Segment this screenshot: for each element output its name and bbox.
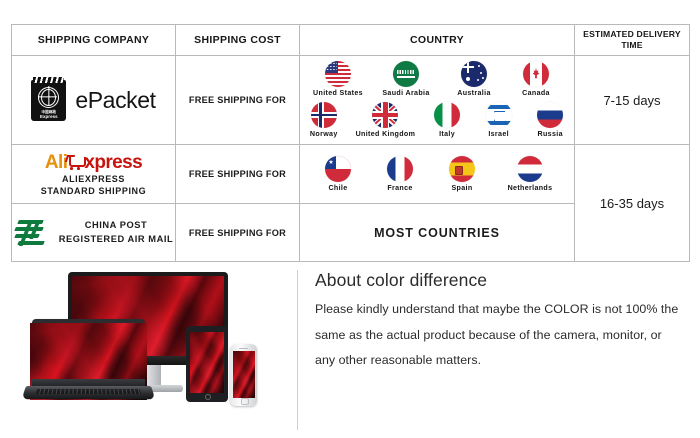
- flag-ru-icon: [537, 102, 563, 128]
- flag-sa-icon: [393, 61, 419, 87]
- cell-eta-epacket: 7-15 days: [575, 56, 690, 145]
- china-post-line2: REGISTERED AIR MAIL: [59, 233, 173, 246]
- about-color-difference-block: About color difference Please kindly und…: [315, 270, 687, 379]
- header-country: COUNTRY: [300, 25, 575, 56]
- header-shipping-company: SHIPPING COMPANY: [12, 25, 176, 56]
- flag-il-icon: [486, 102, 512, 128]
- aliexpress-logo-part2: xpress: [84, 153, 142, 172]
- flag-nl-icon: [517, 156, 543, 182]
- china-post-logo-icon: [14, 218, 48, 248]
- cell-countries-aliexpress: Chile France Spain Netherlands: [300, 145, 575, 204]
- country-label-us: United States: [313, 89, 363, 97]
- cell-countries-china-post: MOST COUNTRIES: [300, 204, 575, 262]
- country-item-nl: Netherlands: [499, 156, 561, 192]
- country-item-ru: Russia: [530, 102, 570, 138]
- flag-uk-icon: [372, 102, 398, 128]
- country-item-sa: Saudi Arabia: [375, 61, 437, 97]
- phone-speaker-icon: [239, 348, 248, 350]
- table-row: Ali xpress ALIEXPRESS STANDARD SHIPPING …: [12, 145, 690, 204]
- table-row: 中国邮政 Express ePacket FREE SHIPPING FOR U…: [12, 56, 690, 145]
- flag-row-3: Chile France Spain Netherlands: [304, 156, 570, 192]
- country-label-nl: Netherlands: [508, 184, 553, 192]
- about-title: About color difference: [315, 270, 687, 291]
- flag-fr-icon: [387, 156, 413, 182]
- aliexpress-sub-line1: ALIEXPRESS: [62, 174, 125, 184]
- tablet-home-button-icon: [205, 394, 211, 400]
- laptop-computer: [26, 319, 151, 405]
- country-label-il: Israel: [488, 130, 509, 138]
- cell-company-china-post: CHINA POST REGISTERED AIR MAIL: [12, 204, 176, 262]
- header-estimated-delivery-time: ESTIMATED DELIVERY TIME: [575, 25, 690, 56]
- country-item-ca: Canada: [511, 61, 561, 97]
- phone-home-button-icon: [241, 398, 249, 405]
- epacket-logo-icon: 中国邮政 Express: [31, 80, 66, 121]
- cell-company-aliexpress: Ali xpress ALIEXPRESS STANDARD SHIPPING: [12, 145, 176, 204]
- country-label-es: Spain: [451, 184, 472, 192]
- devices-illustration: [8, 264, 290, 436]
- tablet-device: [186, 326, 228, 402]
- shopping-cart-icon: [67, 155, 84, 169]
- country-item-no: Norway: [304, 102, 344, 138]
- country-item-us: United States: [313, 61, 363, 97]
- cell-cost-epacket: FREE SHIPPING FOR: [176, 56, 300, 145]
- cell-cost-china-post: FREE SHIPPING FOR: [176, 204, 300, 262]
- about-paragraph-line-2: same as the actual product because of th…: [315, 328, 687, 343]
- flag-cl-icon: [325, 156, 351, 182]
- aliexpress-logo-part1: Ali: [45, 153, 67, 172]
- country-label-au: Australia: [457, 89, 491, 97]
- epacket-badge-en: Express: [40, 114, 58, 119]
- flag-row-1: United States Saudi Arabia Australia: [304, 61, 570, 97]
- about-body: Please kindly understand that maybe the …: [315, 302, 687, 368]
- flag-es-icon: [449, 156, 475, 182]
- country-label-cl: Chile: [328, 184, 347, 192]
- country-item-au: Australia: [449, 61, 499, 97]
- cell-company-epacket: 中国邮政 Express ePacket: [12, 56, 176, 145]
- country-label-no: Norway: [310, 130, 338, 138]
- flag-au-icon: [461, 61, 487, 87]
- country-item-cl: Chile: [313, 156, 363, 192]
- flag-row-2: Norway United Kingdom Italy: [304, 102, 570, 138]
- country-label-it: Italy: [439, 130, 455, 138]
- country-item-uk: United Kingdom: [356, 102, 416, 138]
- about-paragraph-line-3: any other reasonable matters.: [315, 353, 687, 368]
- section-divider: [297, 270, 298, 430]
- country-label-ru: Russia: [538, 130, 563, 138]
- cell-cost-aliexpress: FREE SHIPPING FOR: [176, 145, 300, 204]
- country-item-es: Spain: [437, 156, 487, 192]
- table-header-row: SHIPPING COMPANY SHIPPING COST COUNTRY E…: [12, 25, 690, 56]
- country-label-ca: Canada: [522, 89, 550, 97]
- aliexpress-sub-line2: STANDARD SHIPPING: [41, 186, 147, 196]
- country-label-sa: Saudi Arabia: [382, 89, 429, 97]
- china-post-line1: CHINA POST: [59, 219, 173, 232]
- aliexpress-logo-icon: Ali xpress: [45, 153, 142, 172]
- epacket-label: ePacket: [75, 87, 155, 114]
- tablet-wallpaper: [190, 332, 224, 393]
- flag-ca-icon: [523, 61, 549, 87]
- globe-icon: [38, 87, 59, 108]
- country-label-uk: United Kingdom: [356, 130, 416, 138]
- flag-us-icon: [325, 61, 351, 87]
- phone-wallpaper: [233, 351, 255, 398]
- country-item-fr: France: [375, 156, 425, 192]
- country-item-il: Israel: [479, 102, 519, 138]
- flag-it-icon: [434, 102, 460, 128]
- smartphone-device: [230, 344, 257, 406]
- cell-countries-epacket: United States Saudi Arabia Australia: [300, 56, 575, 145]
- laptop-keyboard-deck: [22, 386, 156, 399]
- color-difference-section: About color difference Please kindly und…: [0, 262, 700, 438]
- header-shipping-cost: SHIPPING COST: [176, 25, 300, 56]
- country-label-fr: France: [387, 184, 412, 192]
- country-item-it: Italy: [427, 102, 467, 138]
- shipping-info-table: SHIPPING COMPANY SHIPPING COST COUNTRY E…: [11, 24, 690, 262]
- about-paragraph-line-1: Please kindly understand that maybe the …: [315, 302, 687, 317]
- flag-no-icon: [311, 102, 337, 128]
- cell-eta-standard: 16-35 days: [575, 145, 690, 262]
